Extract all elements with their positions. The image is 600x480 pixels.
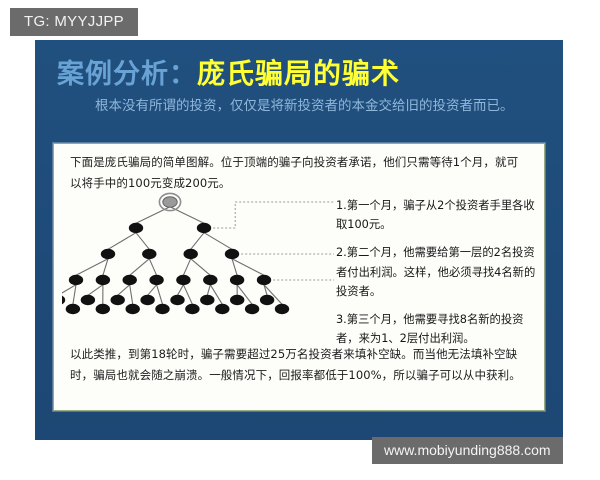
site-watermark: www.mobiyunding888.com <box>372 437 563 464</box>
pyramid-node-level-4 <box>275 304 289 314</box>
watermark-label: www.mobiyunding888.com <box>384 442 551 458</box>
pyramid-node-level-4 <box>200 295 214 305</box>
ponzi-pyramid-diagram <box>62 192 342 342</box>
pyramid-node-level-4 <box>140 295 154 305</box>
pyramid-node-level-3 <box>230 275 244 285</box>
pyramid-node-level-2 <box>101 249 115 259</box>
pyramid-node-level-3 <box>149 275 163 285</box>
step-3-number: 3. <box>336 313 347 326</box>
pyramid-node-level-3 <box>69 275 83 285</box>
pyramid-node-level-4 <box>245 304 259 314</box>
pyramid-node-level-1 <box>197 223 211 233</box>
slide-subtitle: 根本没有所谓的投资，仅仅是将新投资者的本金交给旧的投资者而已。 <box>95 96 525 117</box>
pyramid-node-level-2 <box>225 249 239 259</box>
slide-content-panel: 下面是庞氏骗局的简单图解。位于顶端的骗子向投资者承诺，他们只需等待1个月，就可以… <box>53 143 545 411</box>
pyramid-node-level-2 <box>142 249 156 259</box>
tg-handle-label: TG: MYYJJPP <box>24 13 124 30</box>
pyramid-node-level-1 <box>129 223 143 233</box>
pyramid-node-level-4 <box>96 304 110 314</box>
pyramid-node-level-3 <box>96 275 110 285</box>
slide-title-accent: 庞氏骗局的骗术 <box>197 52 400 92</box>
pyramid-node-level-4 <box>215 304 229 314</box>
pyramid-node-level-4 <box>62 295 65 305</box>
step-2-text: 第二个月，他需要给第一层的2名投资者付出利润。这样，他必须寻找4名新的投资者。 <box>336 246 535 297</box>
pyramid-callout-lines <box>213 202 334 280</box>
pyramid-node-root <box>163 197 177 207</box>
step-item-3: 3.第三个月，他需要寻找8名新的投资者，来为1、2层付出利润。 <box>336 310 536 348</box>
pyramid-node-level-3 <box>203 275 217 285</box>
pyramid-node-level-4 <box>81 295 95 305</box>
slide-title-main: 案例分析： <box>57 52 197 91</box>
intro-paragraph: 下面是庞氏骗局的简单图解。位于顶端的骗子向投资者承诺，他们只需等待1个月，就可以… <box>70 152 528 195</box>
step-3-text: 第三个月，他需要寻找8名新的投资者，来为1、2层付出利润。 <box>336 313 523 345</box>
pyramid-node-level-4 <box>170 295 184 305</box>
pyramid-node-level-4 <box>111 295 125 305</box>
pyramid-node-level-3 <box>176 275 190 285</box>
step-item-1: 1.第一个月，骗子从2个投资者手里各收取100元。 <box>336 196 536 234</box>
tg-handle-badge: TG: MYYJJPP <box>10 8 138 36</box>
pyramid-svg <box>62 192 342 342</box>
step-item-2: 2.第二个月，他需要给第一层的2名投资者付出利润。这样，他必须寻找4名新的投资者… <box>336 243 536 301</box>
steps-list: 1.第一个月，骗子从2个投资者手里各收取100元。 2.第二个月，他需要给第一层… <box>336 196 536 357</box>
pyramid-node-level-4 <box>126 304 140 314</box>
pyramid-node-level-2 <box>184 249 198 259</box>
step-1-number: 1. <box>336 199 347 212</box>
pyramid-node-level-4 <box>260 295 274 305</box>
pyramid-node-level-3 <box>257 275 271 285</box>
step-2-number: 2. <box>336 246 347 259</box>
pyramid-node-level-4 <box>66 304 80 314</box>
step-1-text: 第一个月，骗子从2个投资者手里各收取100元。 <box>336 199 535 231</box>
pyramid-node-level-4 <box>230 295 244 305</box>
pyramid-node-level-3 <box>123 275 137 285</box>
pyramid-node-level-4 <box>155 304 169 314</box>
pyramid-node-level-4 <box>185 304 199 314</box>
callout-line-level-1 <box>213 202 334 228</box>
presentation-slide: 案例分析： 庞氏骗局的骗术 根本没有所谓的投资，仅仅是将新投资者的本金交给旧的投… <box>35 40 563 440</box>
pyramid-edges <box>62 207 282 305</box>
outro-paragraph: 以此类推，到第18轮时，骗子需要超过25万名投资者来填补空缺。而当他无法填补空缺… <box>70 344 530 387</box>
slide-title: 案例分析： 庞氏骗局的骗术 <box>57 52 400 92</box>
